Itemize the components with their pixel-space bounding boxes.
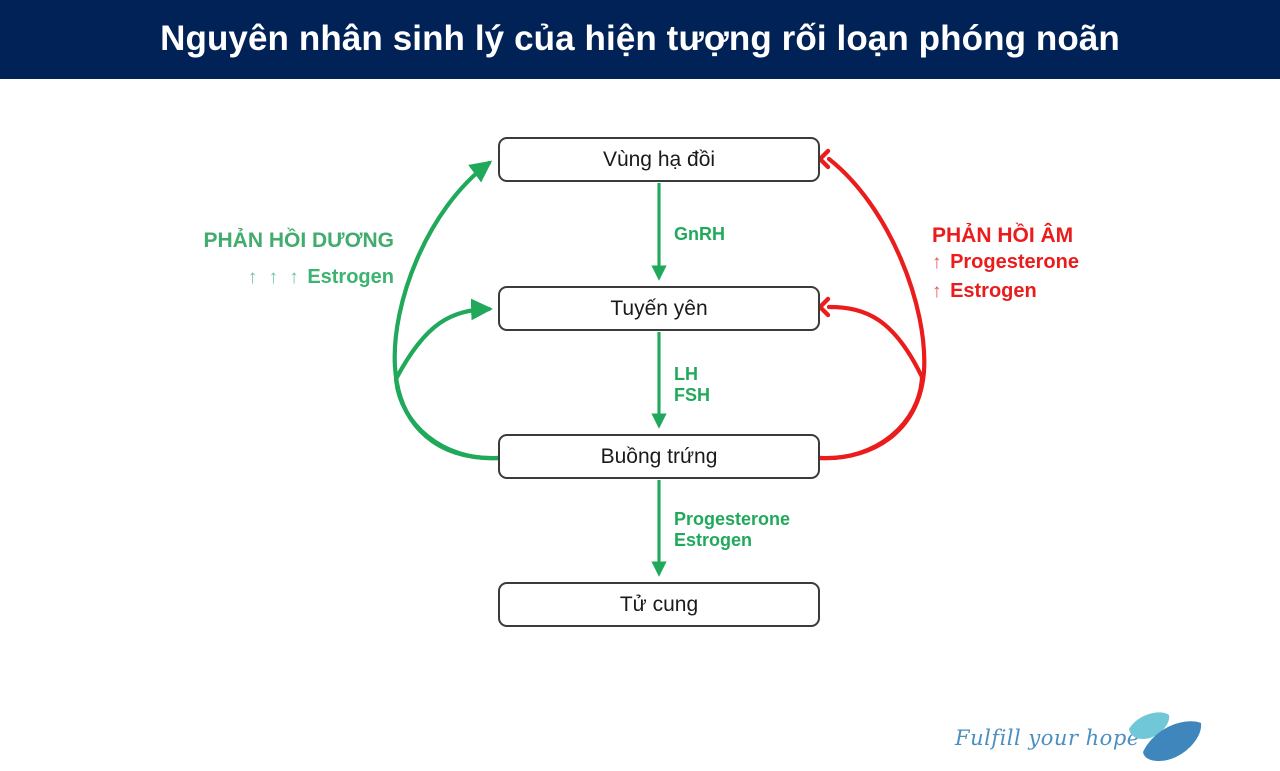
estrogen-text: Estrogen — [674, 530, 790, 551]
node-ovary[interactable]: Buồng trứng — [498, 434, 820, 479]
negative-feedback-curves — [820, 159, 924, 458]
positive-feedback-curves — [395, 163, 498, 458]
curve-ovary-to-pituitary-inhibit — [820, 307, 922, 458]
up-arrow-icon: ↑ — [932, 281, 945, 302]
up-arrow-icon: ↑ — [932, 252, 945, 273]
node-pituitary[interactable]: Tuyến yên — [498, 286, 820, 331]
positive-feedback-hormone-row: ↑ ↑ ↑ Estrogen — [172, 263, 394, 292]
page-title: Nguyên nhân sinh lý của hiện tượng rối l… — [160, 20, 1120, 59]
progesterone-text: Progesterone — [674, 509, 790, 530]
negative-feedback-hormone-progesterone: Progesterone — [950, 251, 1079, 273]
hormone-label-lh-fsh: LH FSH — [674, 364, 710, 406]
node-uterus[interactable]: Tử cung — [498, 582, 820, 627]
negative-feedback-row-estrogen: ↑ Estrogen — [932, 277, 1192, 306]
lh-text: LH — [674, 364, 710, 385]
node-hypothalamus[interactable]: Vùng hạ đồi — [498, 137, 820, 182]
logo-tagline: Fulfill your hope — [955, 726, 1140, 750]
hormone-label-gnrh: GnRH — [674, 224, 725, 245]
hormone-label-progesterone-estrogen: Progesterone Estrogen — [674, 509, 790, 551]
positive-feedback-title: PHẢN HỒI DƯƠNG — [172, 229, 394, 253]
node-ovary-label: Buồng trứng — [601, 446, 718, 467]
brand-logo: Fulfill your hope — [955, 709, 1205, 771]
negative-feedback-annotation: PHẢN HỒI ÂM ↑ Progesterone ↑ Estrogen — [932, 224, 1192, 306]
curve-ovary-to-pituitary — [396, 309, 498, 458]
logo-leaf-icon — [1123, 709, 1205, 765]
node-hypothalamus-label: Vùng hạ đồi — [603, 149, 715, 170]
diagram-canvas: Vùng hạ đồi Tuyến yên Buồng trứng Tử cun… — [0, 79, 1280, 720]
node-pituitary-label: Tuyến yên — [610, 298, 707, 319]
negative-feedback-row-progesterone: ↑ Progesterone — [932, 248, 1192, 277]
negative-feedback-hormone-estrogen: Estrogen — [950, 280, 1037, 302]
fsh-text: FSH — [674, 385, 710, 406]
positive-feedback-annotation: PHẢN HỒI DƯƠNG ↑ ↑ ↑ Estrogen — [172, 229, 394, 292]
up-arrow-icon: ↑ ↑ ↑ — [248, 267, 302, 288]
gnrh-text: GnRH — [674, 224, 725, 244]
title-bar: Nguyên nhân sinh lý của hiện tượng rối l… — [0, 0, 1280, 79]
node-uterus-label: Tử cung — [620, 594, 698, 615]
positive-feedback-hormone: Estrogen — [307, 266, 394, 288]
negative-feedback-title: PHẢN HỒI ÂM — [932, 224, 1192, 248]
